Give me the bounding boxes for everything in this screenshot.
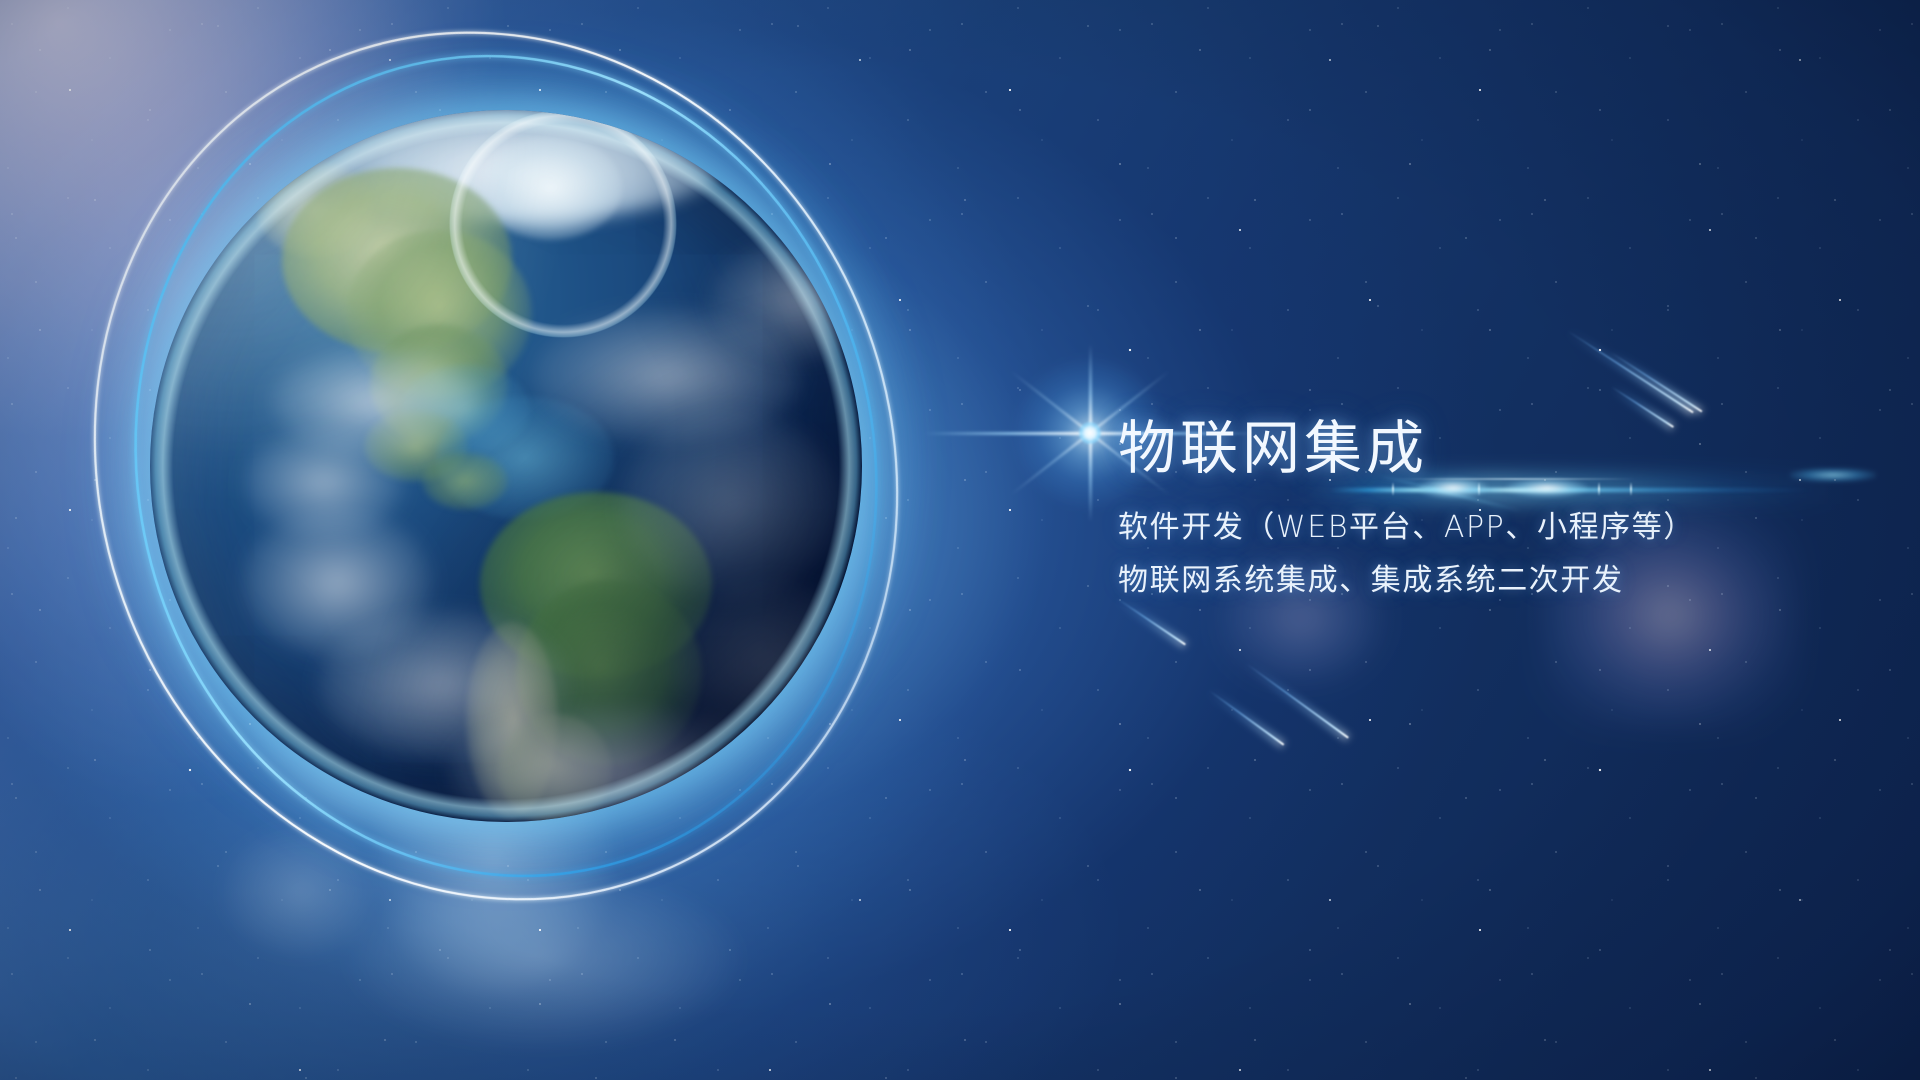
earth-terminator-shading [150,110,862,822]
cloud-band [670,580,862,750]
cloud-band [244,428,404,538]
gulf-of-mexico [400,364,530,454]
south-america-landmass [516,580,702,766]
cloud-band [242,508,432,658]
earth-limb-highlight [150,110,862,822]
banner-stage: 物联网集成 软件开发（WEB平台、APP、小程序等） 物联网系统集成、集成系统二… [0,0,1920,1080]
caribbean-sea [436,396,614,520]
meteor-streak [1210,690,1284,744]
cloud-band [710,240,862,360]
meteor-streak [1612,352,1703,411]
cloud-band [620,410,840,600]
south-america-landmass [498,714,612,822]
meteor-streak [1247,663,1349,737]
andes-range [466,622,558,818]
north-america-landmass [346,230,532,398]
central-america-landmass [422,452,508,510]
north-america-landmass [282,168,512,353]
south-america-landmass [480,492,712,678]
earth-globe [150,110,862,822]
subtitle-line-2: 物联网系统集成、集成系统二次开发 [1118,566,1858,596]
subtitle-line-1: 软件开发（WEB平台、APP、小程序等） [1118,513,1858,543]
central-america-landmass [364,410,468,482]
cloud-band [270,346,480,458]
earth-sphere [150,110,862,822]
nebula-wisp [160,640,800,1060]
greenland-landmass [480,136,622,240]
banner-copy: 物联网集成 软件开发（WEB平台、APP、小程序等） 物联网系统集成、集成系统二… [1118,418,1858,596]
cloud-band [318,610,568,760]
earth-limb-highlight [150,110,862,822]
earth-atmosphere-halo [80,40,932,892]
meteor-streak [1118,598,1186,644]
arctic-ice-cap [300,110,730,222]
north-america-landmass [370,324,508,444]
meteor-streak [1568,330,1694,412]
subtitle-group: 软件开发（WEB平台、APP、小程序等） 物联网系统集成、集成系统二次开发 [1118,513,1858,596]
cloud-band [450,706,780,822]
orbit-ring-blue [55,0,957,950]
cloud-band [532,308,802,444]
alaska-landmass [256,162,376,258]
page-title: 物联网集成 [1118,418,1858,479]
orbit-ring-white [0,0,1018,1013]
